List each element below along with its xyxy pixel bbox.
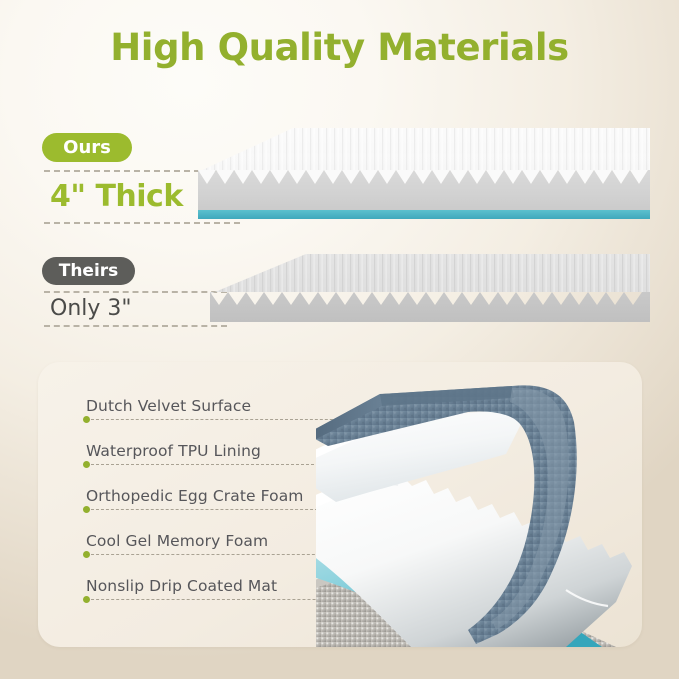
page-title: High Quality Materials bbox=[0, 26, 679, 69]
measurement-theirs-value: Only 3" bbox=[50, 296, 132, 321]
leader-line bbox=[86, 509, 328, 510]
feature-label: Waterproof TPU Lining bbox=[86, 442, 261, 460]
layered-foam-illustration bbox=[316, 362, 642, 647]
badge-ours-label: Ours bbox=[63, 137, 111, 158]
mattress-theirs-svg bbox=[198, 248, 650, 330]
mattress-illustration-theirs bbox=[198, 248, 650, 330]
leader-dot-start bbox=[83, 461, 90, 468]
layered-foam-svg bbox=[316, 362, 642, 647]
measurement-ours-value: 4" Thick bbox=[50, 179, 183, 214]
feature-label: Orthopedic Egg Crate Foam bbox=[86, 487, 304, 505]
badge-ours: Ours bbox=[42, 133, 132, 162]
feature-label: Cool Gel Memory Foam bbox=[86, 532, 268, 550]
leader-dot-start bbox=[83, 551, 90, 558]
feature-label: Nonslip Drip Coated Mat bbox=[86, 577, 277, 595]
features-card: Dutch Velvet Surface Waterproof TPU Lini… bbox=[38, 362, 642, 647]
leader-dot-start bbox=[83, 506, 90, 513]
leader-line bbox=[86, 554, 350, 555]
leader-dot-start bbox=[83, 596, 90, 603]
mattress-ours-svg bbox=[198, 124, 650, 226]
mattress-illustration-ours bbox=[198, 124, 650, 226]
badge-theirs: Theirs bbox=[42, 257, 135, 285]
leader-dot-start bbox=[83, 416, 90, 423]
feature-label: Dutch Velvet Surface bbox=[86, 397, 251, 415]
badge-theirs-label: Theirs bbox=[59, 261, 119, 281]
